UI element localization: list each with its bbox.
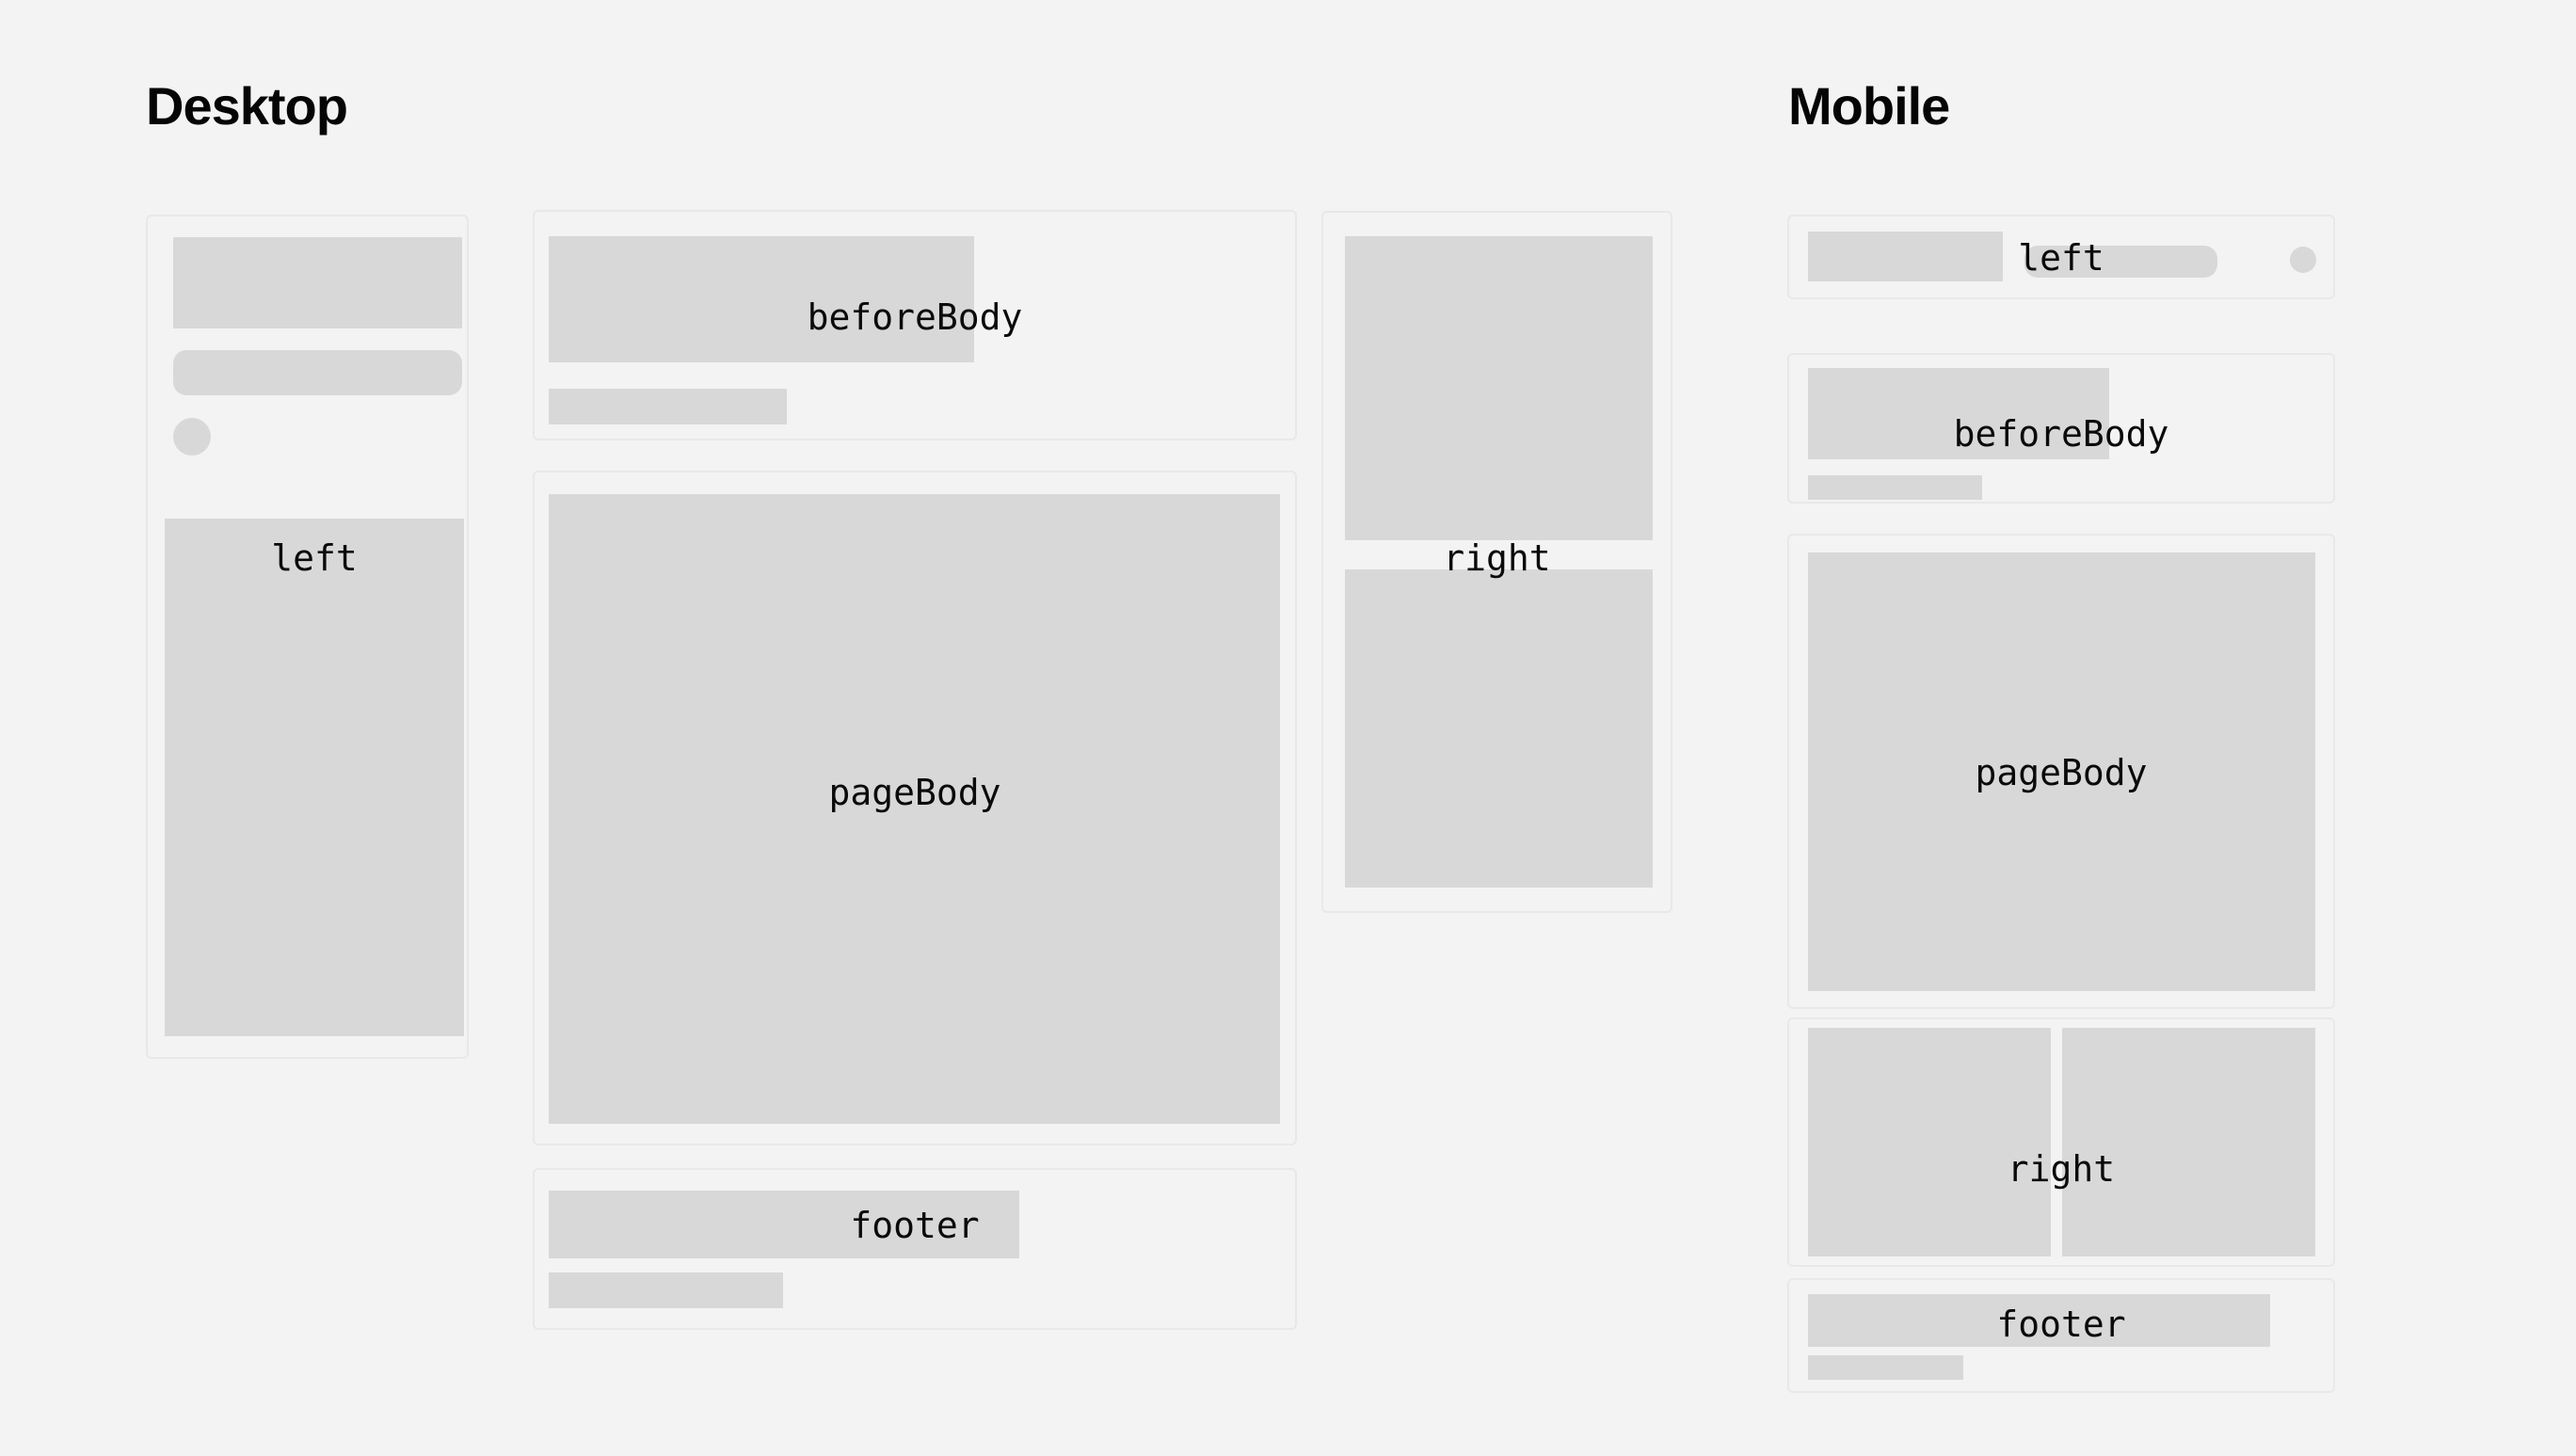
desktop-left-placeholder-block-2 <box>165 519 464 1036</box>
mobile-before-body-placeholder-block-2 <box>1808 475 1982 500</box>
desktop-before-body-placeholder-block-2 <box>549 389 787 424</box>
desktop-left-placeholder-bar <box>173 350 462 395</box>
desktop-footer-placeholder-block-2 <box>549 1272 783 1308</box>
mobile-left-placeholder-block <box>1808 232 2003 281</box>
mobile-left-placeholder-circle <box>2290 247 2316 273</box>
desktop-right-placeholder-block-2 <box>1345 569 1653 888</box>
desktop-right-placeholder-block-1 <box>1345 236 1653 540</box>
mobile-right-placeholder-block-1 <box>1808 1028 2051 1256</box>
mobile-footer-placeholder-block-2 <box>1808 1355 1963 1380</box>
mobile-right-placeholder-block-2 <box>2062 1028 2315 1256</box>
desktop-left-placeholder-circle <box>173 418 211 456</box>
mobile-left-placeholder-bar <box>2024 246 2217 278</box>
desktop-page-body-placeholder-block <box>549 494 1280 1124</box>
desktop-footer-placeholder-block-1 <box>549 1191 1019 1258</box>
mobile-footer-placeholder-block-1 <box>1808 1294 2270 1347</box>
mobile-page-body-placeholder-block <box>1808 552 2315 991</box>
desktop-left-placeholder-block-1 <box>173 237 462 328</box>
mobile-section-title: Mobile <box>1788 80 1949 133</box>
mobile-before-body-placeholder-block-1 <box>1808 368 2109 459</box>
desktop-section-title: Desktop <box>146 80 347 133</box>
desktop-before-body-placeholder-block-1 <box>549 236 974 362</box>
